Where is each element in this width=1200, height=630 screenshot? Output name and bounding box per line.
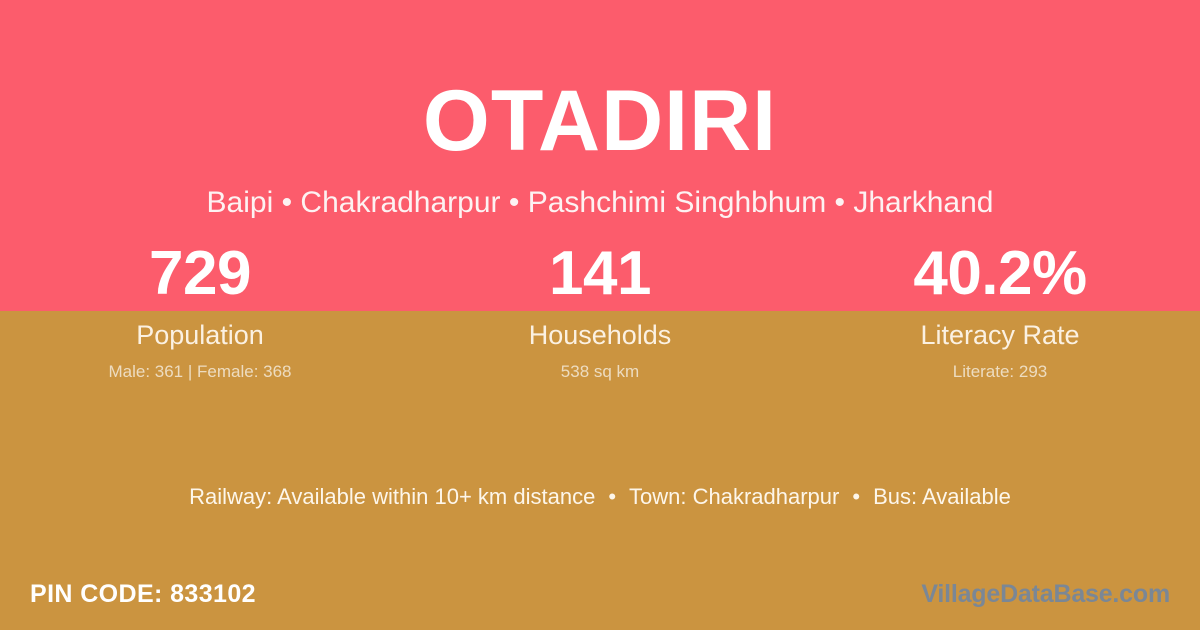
infrastructure-bus: Bus: Available (873, 484, 1011, 509)
card-header: OTADIRI Baipi • Chakradharpur • Pashchim… (0, 0, 1200, 219)
stat-households: 141 Households 538 sq km (400, 243, 800, 381)
stat-households-value: 141 (400, 243, 800, 305)
stat-literacy-rate-sublabel: Literate: 293 (800, 363, 1200, 382)
stat-households-sublabel: 538 sq km (400, 363, 800, 382)
stat-literacy-rate: 40.2% Literacy Rate Literate: 293 (800, 243, 1200, 381)
infrastructure-separator-1: • (595, 484, 629, 510)
infrastructure-railway: Railway: Available within 10+ km distanc… (189, 484, 595, 509)
infrastructure-separator-2: • (839, 484, 873, 510)
village-info-card: OTADIRI Baipi • Chakradharpur • Pashchim… (0, 0, 1200, 630)
stat-literacy-rate-label: Literacy Rate (800, 321, 1200, 351)
statistics-row: 729 Population Male: 361 | Female: 368 1… (0, 243, 1200, 381)
stat-population-value: 729 (0, 243, 400, 305)
pin-code-label: PIN CODE: 833102 (30, 580, 256, 609)
card-footer: PIN CODE: 833102 VillageDataBase.com (0, 558, 1200, 630)
stat-population-label: Population (0, 321, 400, 351)
site-brand-label: VillageDataBase.com (921, 580, 1170, 609)
village-location-breadcrumb: Baipi • Chakradharpur • Pashchimi Singhb… (0, 186, 1200, 219)
stat-literacy-rate-value: 40.2% (800, 243, 1200, 305)
stat-households-label: Households (400, 321, 800, 351)
stat-population-sublabel: Male: 361 | Female: 368 (0, 363, 400, 382)
infrastructure-row: Railway: Available within 10+ km distanc… (0, 484, 1200, 510)
village-name-title: OTADIRI (0, 78, 1200, 164)
stat-population: 729 Population Male: 361 | Female: 368 (0, 243, 400, 381)
infrastructure-town: Town: Chakradharpur (629, 484, 839, 509)
